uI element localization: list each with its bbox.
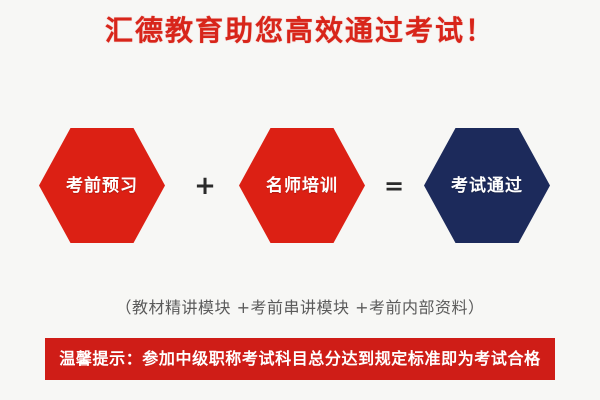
notice-banner-text: 温馨提示：参加中级职称考试科目总分达到规定标准即为考试合格: [59, 349, 540, 369]
equals-operator-icon: =: [374, 128, 414, 243]
module-breakdown-caption: （教材精讲模块 +考前串讲模块 +考前内部资料）: [0, 297, 600, 319]
formula-row: 考前预习 + 名师培训 = 考试通过: [0, 128, 600, 244]
page-title: 汇德教育助您高效通过考试！: [0, 14, 600, 48]
step-card-label: 考试通过: [451, 176, 523, 196]
notice-banner: 温馨提示：参加中级职称考试科目总分达到规定标准即为考试合格: [45, 338, 555, 380]
step-card-label: 名师培训: [266, 176, 338, 196]
step-card-label: 考前预习: [66, 176, 138, 196]
step-card-exam-passed: 考试通过: [424, 128, 550, 243]
step-card-exam-preview: 考前预习: [39, 128, 165, 243]
plus-operator-icon: +: [185, 128, 225, 243]
promo-poster: 汇德教育助您高效通过考试！ 考前预习 + 名师培训 = 考试通过 （教材精讲模块…: [0, 0, 600, 400]
step-card-expert-training: 名师培训: [239, 128, 365, 243]
